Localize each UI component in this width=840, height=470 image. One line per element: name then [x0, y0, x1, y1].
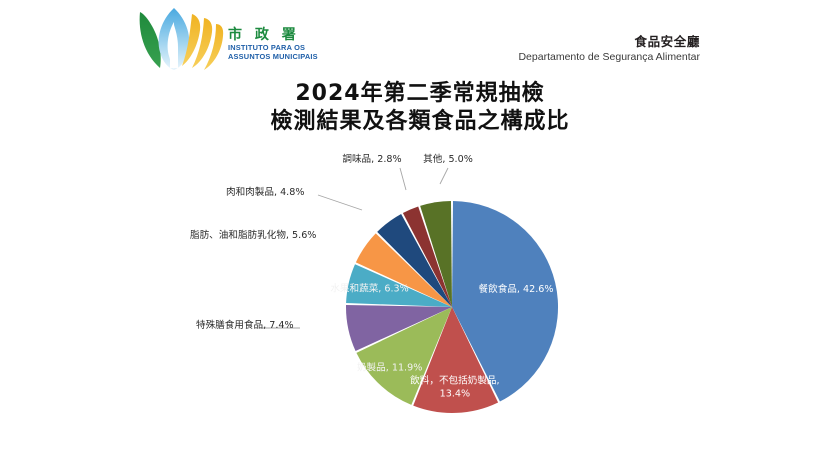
page-title-line2: 檢測結果及各類食品之構成比: [0, 108, 840, 136]
imm-logo-pt-line1: INSTITUTO PARA OS: [228, 43, 336, 52]
pie-slice-label: 調味品, 2.8%: [342, 153, 401, 165]
pie-slice-label: 肉和肉製品, 4.8%: [226, 186, 304, 198]
pie-leader-line: [318, 195, 362, 210]
imm-logo-text: 市 政 署 INSTITUTO PARA OS ASSUNTOS MUNICIP…: [228, 28, 336, 61]
pie-slice-label: 特殊膳食用食品, 7.4%: [196, 319, 294, 331]
slide-canvas: 市 政 署 INSTITUTO PARA OS ASSUNTOS MUNICIP…: [0, 0, 840, 470]
imm-logo-cn: 市 政 署: [228, 28, 336, 43]
department-name-cn: 食品安全廳: [518, 34, 700, 50]
pie-chart: 餐飲食品, 42.6%飲料，不包括奶製品,13.4%奶製品, 11.9%特殊膳食…: [0, 140, 840, 470]
pie-chart-svg: 餐飲食品, 42.6%飲料，不包括奶製品,13.4%奶製品, 11.9%特殊膳食…: [0, 140, 840, 470]
department-heading: 食品安全廳 Departamento de Segurança Alimenta…: [518, 34, 700, 64]
pie-slice-label: 其他, 5.0%: [423, 153, 473, 165]
pie-slice-label: 脂肪、油和脂肪乳化物, 5.6%: [190, 229, 316, 241]
department-name-pt: Departamento de Segurança Alimentar: [518, 50, 700, 64]
pie-leader-line: [400, 168, 406, 190]
pie-slice-label: 水果和蔬菜, 6.3%: [330, 282, 408, 294]
page-title: 2024年第二季常規抽檢 檢測結果及各類食品之構成比: [0, 80, 840, 136]
imm-logo-pt-line2: ASSUNTOS MUNICIPAIS: [228, 52, 336, 61]
pie-slice-label: 奶製品, 11.9%: [357, 362, 422, 374]
imm-logo: 市 政 署 INSTITUTO PARA OS ASSUNTOS MUNICIP…: [130, 4, 335, 74]
pie-leader-line: [440, 168, 448, 184]
page-title-line1: 2024年第二季常規抽檢: [0, 80, 840, 108]
pie-slice-label: 餐飲食品, 42.6%: [479, 283, 554, 295]
imm-lotus-logo-icon: [130, 6, 226, 72]
